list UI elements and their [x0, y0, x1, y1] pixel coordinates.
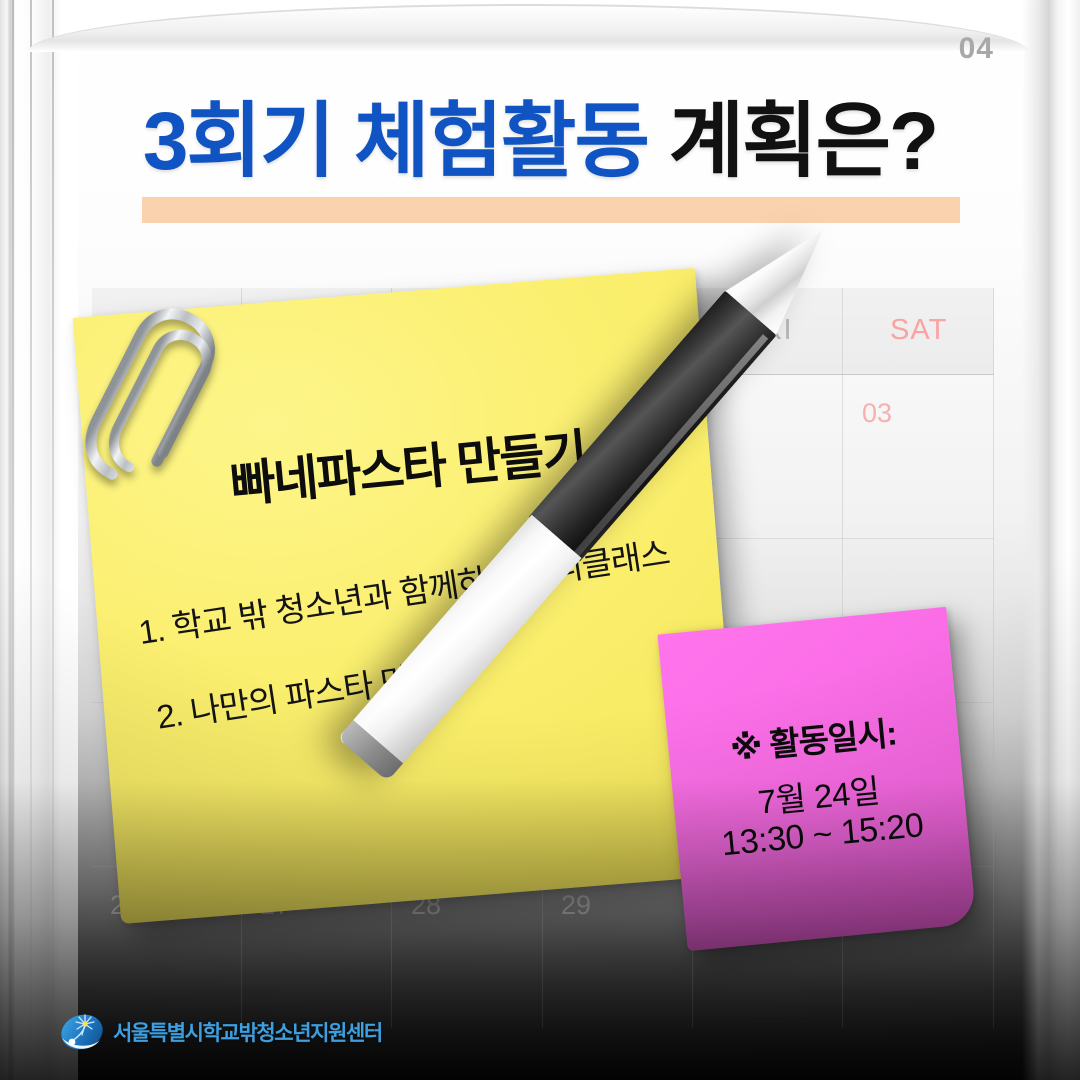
- footer-organization-name: 서울특별시학교밖청소년지원센터: [113, 1017, 382, 1047]
- page-title-primary: 3회기 체험활동: [143, 96, 648, 187]
- pink-sticky-note: ※ 활동일시: 7월 24일 13:30 ~ 15:20: [657, 607, 976, 951]
- calendar-date-03: 03: [844, 398, 994, 429]
- dandelion-logo-icon: [58, 1008, 106, 1056]
- footer-branding: 서울특별시학교밖청소년지원센터: [58, 1008, 382, 1056]
- calendar-dayname-sat: SAT: [844, 314, 993, 347]
- title-underline-bar: [142, 197, 960, 223]
- page-number: 04: [959, 32, 994, 66]
- poster-card: MON TUE WED THU FRI SAT 03 12 19 26 27 2…: [0, 0, 1080, 1080]
- page-title-secondary: 계획은?: [669, 96, 937, 187]
- calendar-date-29: 29: [543, 890, 693, 921]
- page-title: 3회기 체험활동 계획은?: [0, 74, 1080, 193]
